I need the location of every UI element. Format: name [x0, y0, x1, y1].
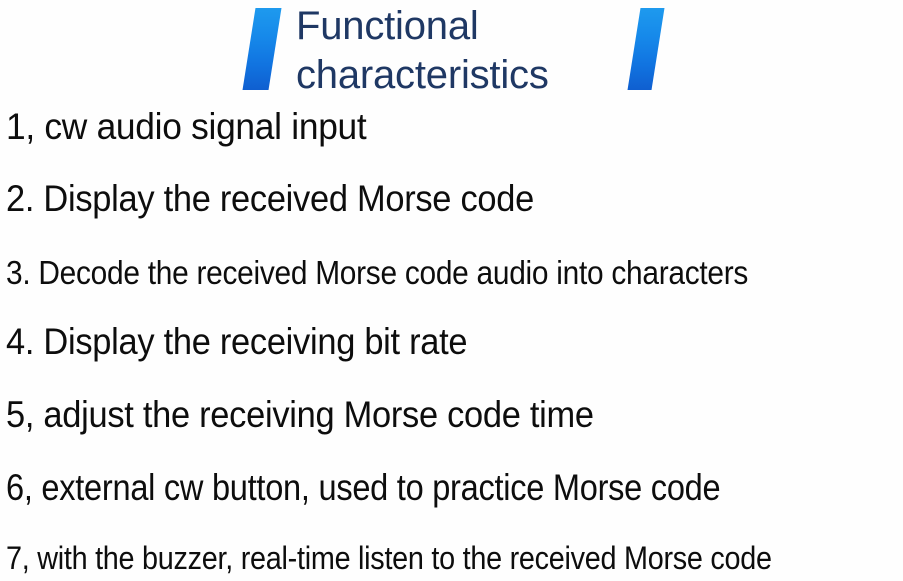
feature-list-item: 4. Display the receiving bit rate [6, 321, 467, 363]
page-title-line-1: Functional [296, 0, 626, 52]
feature-list-item: 3. Decode the received Morse code audio … [6, 254, 748, 292]
feature-list-item: 7, with the buzzer, real-time listen to … [6, 540, 772, 577]
slash-accent-left-icon [243, 8, 282, 90]
title-block: Functional characteristics [0, 0, 903, 104]
feature-list-item: 2. Display the received Morse code [6, 178, 534, 220]
page-title-line-2: characteristics [296, 49, 626, 101]
feature-list-item: 6, external cw button, used to practice … [6, 467, 720, 509]
page-title: Functional characteristics [296, 0, 626, 101]
feature-list-item: 5, adjust the receiving Morse code time [6, 394, 594, 436]
feature-list-item: 1, cw audio signal input [6, 106, 366, 148]
product-feature-graphic: Functional characteristics 1, cw audio s… [0, 0, 903, 581]
slash-accent-right-icon [628, 8, 665, 90]
